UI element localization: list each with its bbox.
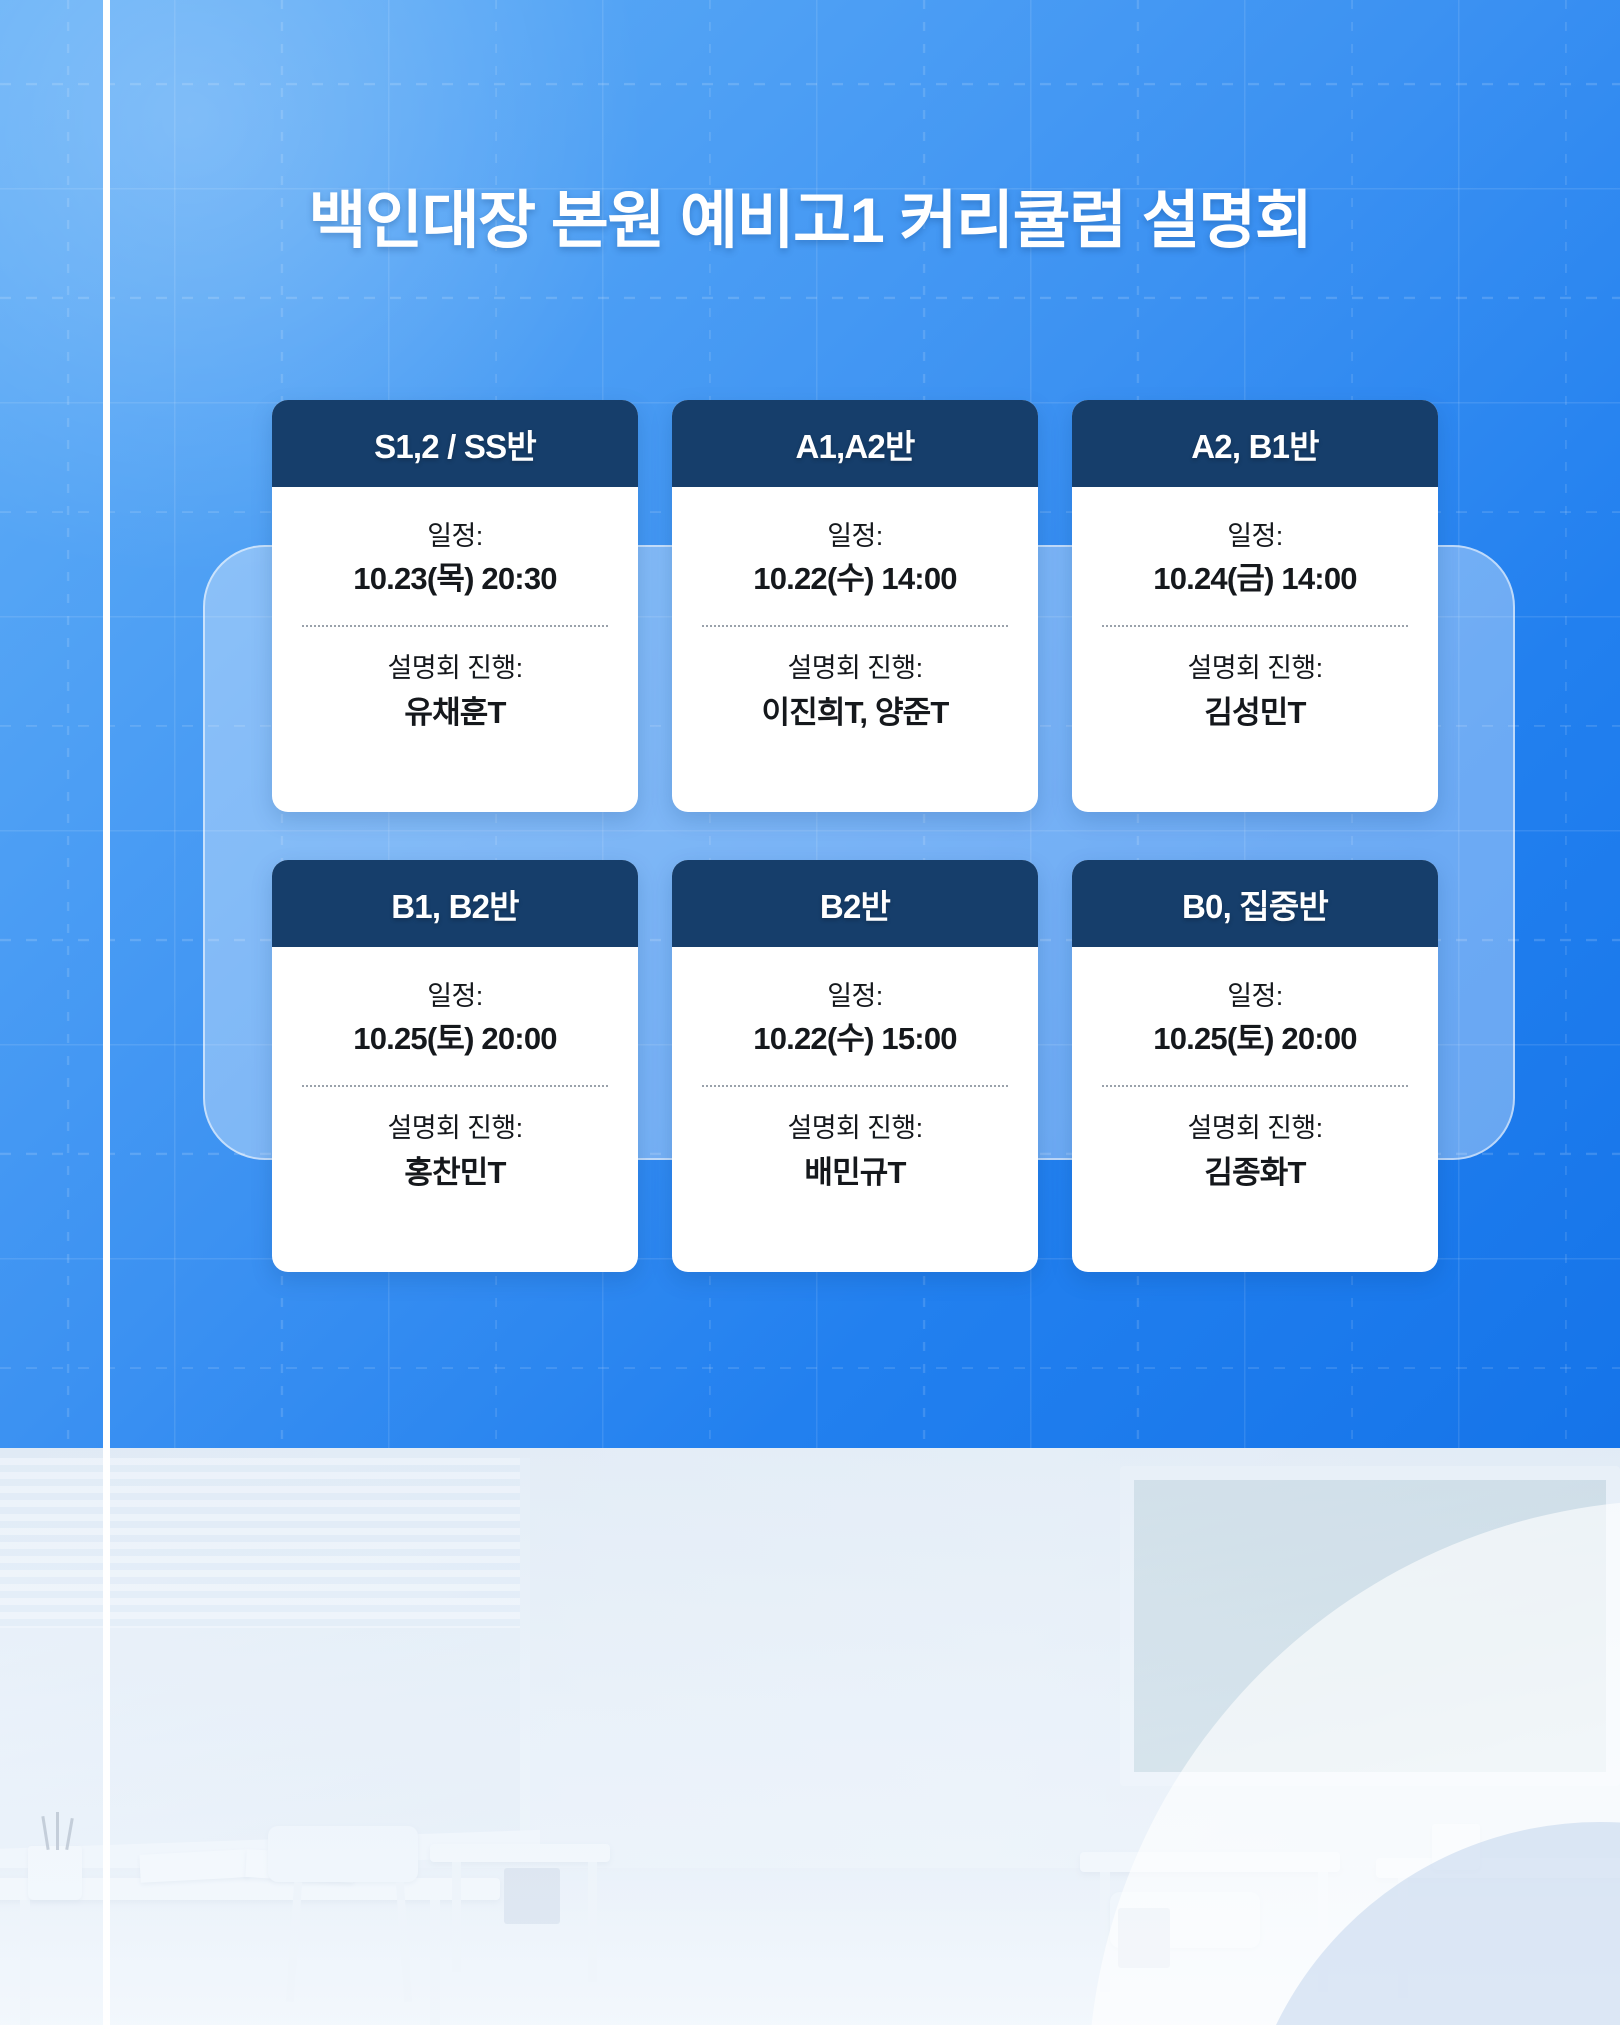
schedule-value: 10.23(목) 20:30	[353, 557, 556, 601]
host-value: 유채훈T	[404, 691, 505, 735]
class-card[interactable]: S1,2 / SS반 일정: 10.23(목) 20:30 설명회 진행: 유채…	[272, 400, 638, 812]
host-label: 설명회 진행:	[387, 1109, 522, 1147]
page-title: 백인대장 본원 예비고1 커리큘럼 설명회	[0, 186, 1620, 257]
host-value: 홍찬민T	[404, 1151, 505, 1195]
class-card[interactable]: B0, 집중반 일정: 10.25(토) 20:00 설명회 진행: 김종화T	[1072, 860, 1438, 1272]
card-divider	[1102, 625, 1408, 627]
class-card-grid: S1,2 / SS반 일정: 10.23(목) 20:30 설명회 진행: 유채…	[272, 400, 1372, 1272]
class-card-header: S1,2 / SS반	[272, 400, 638, 487]
class-card-body: 일정: 10.22(수) 15:00 설명회 진행: 배민규T	[672, 947, 1038, 1272]
class-card-header: B2반	[672, 860, 1038, 947]
schedule-label: 일정:	[427, 517, 482, 555]
schedule-value: 10.22(수) 14:00	[753, 557, 956, 601]
class-card[interactable]: B2반 일정: 10.22(수) 15:00 설명회 진행: 배민규T	[672, 860, 1038, 1272]
host-value: 김성민T	[1204, 691, 1305, 735]
schedule-label: 일정:	[1227, 517, 1282, 555]
schedule-value: 10.25(토) 20:00	[1153, 1017, 1356, 1061]
card-divider	[702, 625, 1008, 627]
host-label: 설명회 진행:	[787, 1109, 922, 1147]
schedule-label: 일정:	[1227, 977, 1282, 1015]
card-divider	[302, 625, 608, 627]
host-value: 이진희T, 양준T	[761, 691, 948, 735]
host-value: 배민규T	[804, 1151, 905, 1195]
circle-overlay-clip	[0, 1448, 1620, 2025]
card-divider	[702, 1085, 1008, 1087]
schedule-value: 10.22(수) 15:00	[753, 1017, 956, 1061]
host-label: 설명회 진행:	[387, 649, 522, 687]
class-card[interactable]: B1, B2반 일정: 10.25(토) 20:00 설명회 진행: 홍찬민T	[272, 860, 638, 1272]
poster-root: 백인대장 본원 예비고1 커리큘럼 설명회 S1,2 / SS반 일정: 10.…	[0, 0, 1620, 2025]
white-vertical-rule	[103, 0, 110, 2025]
host-label: 설명회 진행:	[1187, 1109, 1322, 1147]
schedule-value: 10.25(토) 20:00	[353, 1017, 556, 1061]
schedule-label: 일정:	[427, 977, 482, 1015]
schedule-label: 일정:	[827, 977, 882, 1015]
schedule-value: 10.24(금) 14:00	[1153, 557, 1356, 601]
card-divider	[1102, 1085, 1408, 1087]
class-card[interactable]: A1,A2반 일정: 10.22(수) 14:00 설명회 진행: 이진희T, …	[672, 400, 1038, 812]
class-card-header: A1,A2반	[672, 400, 1038, 487]
class-card-body: 일정: 10.25(토) 20:00 설명회 진행: 김종화T	[1072, 947, 1438, 1272]
class-card-header: B1, B2반	[272, 860, 638, 947]
host-label: 설명회 진행:	[1187, 649, 1322, 687]
class-card-body: 일정: 10.22(수) 14:00 설명회 진행: 이진희T, 양준T	[672, 487, 1038, 812]
schedule-label: 일정:	[827, 517, 882, 555]
class-card-header: B0, 집중반	[1072, 860, 1438, 947]
class-card[interactable]: A2, B1반 일정: 10.24(금) 14:00 설명회 진행: 김성민T	[1072, 400, 1438, 812]
host-label: 설명회 진행:	[787, 649, 922, 687]
class-card-header: A2, B1반	[1072, 400, 1438, 487]
host-value: 김종화T	[1204, 1151, 1305, 1195]
class-card-body: 일정: 10.23(목) 20:30 설명회 진행: 유채훈T	[272, 487, 638, 812]
class-card-body: 일정: 10.25(토) 20:00 설명회 진행: 홍찬민T	[272, 947, 638, 1272]
card-divider	[302, 1085, 608, 1087]
class-card-body: 일정: 10.24(금) 14:00 설명회 진행: 김성민T	[1072, 487, 1438, 812]
